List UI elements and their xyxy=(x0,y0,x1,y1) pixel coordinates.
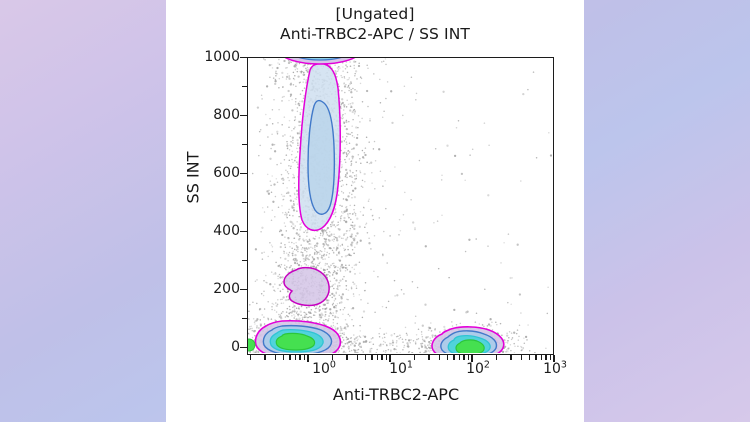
x-tickmark-minor xyxy=(447,355,448,360)
x-tickmark-minor xyxy=(365,355,366,360)
x-tickmark-minor xyxy=(463,355,464,360)
x-tick-10e1: 101 xyxy=(389,362,413,376)
x-tickmark-minor xyxy=(250,355,251,360)
x-tick-10e0: 100 xyxy=(312,362,336,376)
y-tickmark-200 xyxy=(240,289,247,291)
y-tickmark-400 xyxy=(240,231,247,233)
event-dots xyxy=(248,58,552,353)
x-tickmark-minor xyxy=(453,355,454,360)
x-tickmark-minor xyxy=(386,355,387,360)
x-axis-tick-labels: 100 101 102 103 xyxy=(166,362,584,386)
population-trbc2-positive xyxy=(432,327,504,353)
y-tickmark-1000 xyxy=(240,57,247,59)
plot-area[interactable] xyxy=(247,57,554,355)
y-tickmark-0 xyxy=(240,347,247,349)
x-tickmark-minor xyxy=(468,355,469,360)
x-tickmark-minor xyxy=(428,355,429,360)
x-tickmark-minor xyxy=(283,355,284,360)
x-tickmark-minor xyxy=(295,355,296,360)
screenshot-stage: [Ungated] Anti-TRBC2-APC / SS INT 1000 8… xyxy=(0,0,750,422)
flow-cytometry-plot: [Ungated] Anti-TRBC2-APC / SS INT 1000 8… xyxy=(166,0,584,422)
population-granulocytes xyxy=(299,64,341,231)
x-tickmark-minor xyxy=(521,355,522,360)
x-tickmark-minor xyxy=(264,355,265,360)
x-tick-10e2: 102 xyxy=(466,362,490,376)
density-scatter-canvas xyxy=(248,58,552,353)
y-tickmark-600 xyxy=(240,173,247,175)
x-tickmark-minor xyxy=(275,355,276,360)
x-tickmark-minor xyxy=(529,355,530,360)
x-tickmark-minor xyxy=(414,355,415,360)
figure-panel: [Ungated] Anti-TRBC2-APC / SS INT 1000 8… xyxy=(166,0,584,422)
x-tickmark-minor xyxy=(550,355,551,360)
x-tickmark-minor xyxy=(357,355,358,360)
x-tickmark-minor xyxy=(459,355,460,360)
y-tick-200: 200 xyxy=(184,282,240,296)
x-tickmark-minor xyxy=(439,355,440,360)
x-tick-10e3: 103 xyxy=(543,362,567,376)
x-tickmark-major xyxy=(307,355,309,362)
population-edge-marker xyxy=(248,339,255,351)
x-tickmark-minor xyxy=(346,355,347,360)
x-tickmark-minor xyxy=(289,355,290,360)
x-tickmark-minor xyxy=(545,355,546,360)
population-monocytes xyxy=(284,268,329,306)
x-axis-title: Anti-TRBC2-APC xyxy=(226,385,566,404)
x-tickmark-minor xyxy=(371,355,372,360)
y-tick-0: 0 xyxy=(184,340,240,354)
x-tickmark-minor xyxy=(496,355,497,360)
y-tick-1000: 1000 xyxy=(184,50,240,64)
x-tickmark-minor xyxy=(541,355,542,360)
x-tickmark-minor xyxy=(510,355,511,360)
population-trbc2-negative xyxy=(255,321,340,353)
x-tickmark-minor xyxy=(377,355,378,360)
x-tickmark-minor xyxy=(304,355,305,360)
x-tickmark-minor xyxy=(299,355,300,360)
x-tickmark-minor xyxy=(535,355,536,360)
population-saturated-top xyxy=(280,58,360,64)
y-tickmark-800 xyxy=(240,115,247,117)
x-tickmark-minor xyxy=(381,355,382,360)
y-axis-title: SS INT xyxy=(184,88,203,268)
